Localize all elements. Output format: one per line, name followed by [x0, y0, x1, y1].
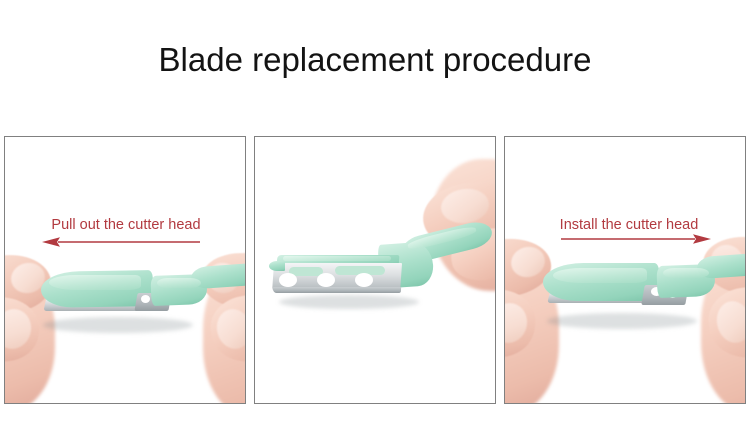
arrow-right-icon [561, 233, 711, 245]
cutter-head-highlight [553, 268, 647, 283]
handle-highlight [157, 278, 201, 288]
tool-shadow [547, 313, 697, 329]
blade-cutting-edge [273, 287, 401, 293]
blade-notch-3 [355, 273, 373, 287]
panel-row: Pull out the cutter head [4, 136, 746, 406]
blade-tip-hook [269, 261, 285, 271]
blade-notch-1 [141, 295, 150, 303]
panel-1-caption: Pull out the cutter head [6, 217, 246, 233]
blade-notch-2 [317, 273, 335, 287]
panel-detached-cutter-head [254, 136, 496, 404]
cutter-head-highlight [49, 275, 141, 290]
tool-shadow [43, 317, 193, 333]
arrow-left-icon [42, 236, 200, 248]
head-shadow [279, 295, 419, 309]
panel-1-photo [5, 137, 245, 403]
blade-replacement-infographic: Blade replacement procedure [0, 0, 750, 425]
page-title: Blade replacement procedure [0, 40, 750, 80]
cutter-head-rail-highlight [283, 256, 391, 261]
blade-notch-1 [279, 273, 297, 287]
panel-pull-out-cutter-head: Pull out the cutter head [4, 136, 246, 404]
panel-install-cutter-head: Install the cutter head [504, 136, 746, 404]
panel-2-photo [255, 137, 495, 403]
panel-3-photo [505, 137, 745, 403]
panel-3-caption: Install the cutter head [509, 217, 746, 233]
handle-highlight [663, 268, 709, 278]
